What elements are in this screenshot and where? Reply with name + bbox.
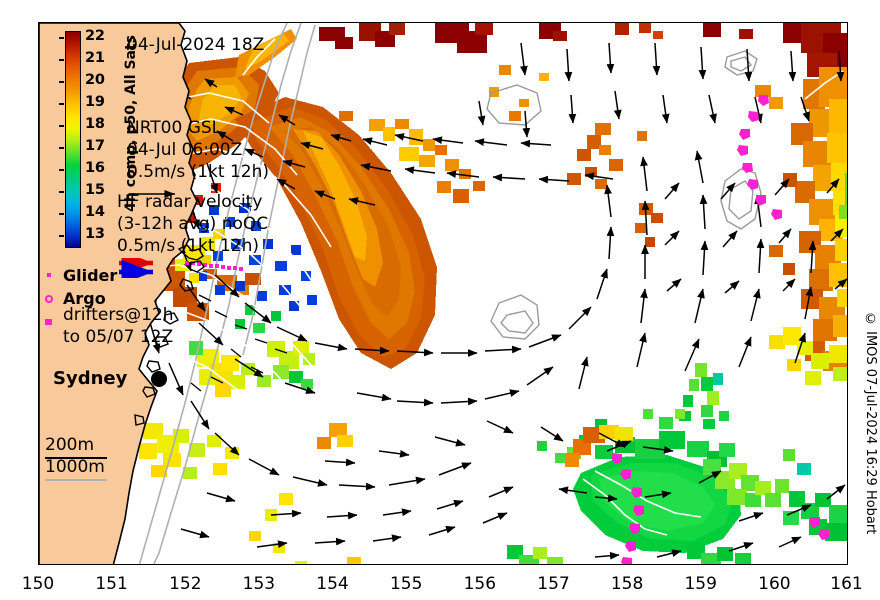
xtick-label-160: 160 [744,574,804,594]
date-stamp: 04-Jul-2024 18Z [127,35,264,55]
map-layers [39,23,848,565]
colorbar-tick-21: 21 [85,50,105,66]
xtick-label-151: 151 [82,574,142,594]
glider-legend-marker [47,273,51,277]
hf-line-3: 0.5m/s (1kt 12h) [117,235,268,257]
sst-raster [135,23,848,565]
nrt-line-3: 0.5m/s (1kt 12h) [127,161,269,183]
bathy-1000m-label: 1000m [45,457,105,477]
map-plot-area[interactable]: 22 21 20 19 18 17 16 15 14 13 4h comp, p… [38,22,848,565]
colorbar-tick-16: 16 [85,160,105,176]
xtick-label-156: 156 [450,574,510,594]
bathy-200m-label: 200m [45,435,94,455]
copyright-notice: © IMOS 07-Jul-2024 16:29 Hobart [863,312,878,534]
drifter-legend-label: drifters@12h [63,305,174,325]
drifter-legend-marker [45,319,52,325]
xtick-label-154: 154 [303,574,363,594]
xtick-label-152: 152 [155,574,215,594]
xtick-label-153: 153 [229,574,289,594]
glider-legend-label: Glider [63,266,117,285]
colorbar-tick-13: 13 [85,226,105,242]
colorbar-tick-18: 18 [85,116,105,132]
xtick-label-157: 157 [524,574,584,594]
colorbar-tick-17: 17 [85,138,105,154]
bathy-1000m-swatch [45,479,107,481]
hf-line-1: HF radar velocity [117,191,268,213]
sst-colorbar [65,31,81,248]
hf-scale-arrows [117,258,173,278]
nrt-line-2: 04-Jul 06:00Z [127,139,269,161]
imos-sst-current-map: 22 21 20 19 18 17 16 15 14 13 4h comp, p… [0,0,880,600]
nrt-line-1: NRT00 GSL [127,117,269,139]
colorbar-tick-14: 14 [85,204,105,220]
xtick-label-158: 158 [597,574,657,594]
xtick-label-155: 155 [376,574,436,594]
hf-line-2: (3-12h avg) noQC [117,213,268,235]
colorbar-tick-22: 22 [85,28,105,44]
xtick-label-159: 159 [671,574,731,594]
drifter-period-label: to 05/07 12Z [63,327,173,347]
argo-legend-marker [45,295,53,303]
sydney-city-marker [151,371,167,387]
colorbar-tick-20: 20 [85,72,105,88]
hf-radar-annotation: HF radar velocity (3-12h avg) noQC 0.5m/… [117,191,268,278]
xtick-label-161: 161 [817,574,877,594]
colorbar-tick-15: 15 [85,182,105,198]
xtick-label-150: 150 [8,574,68,594]
offshore-contours [487,51,761,339]
sydney-label: Sydney [53,368,127,389]
colorbar-tick-19: 19 [85,94,105,110]
